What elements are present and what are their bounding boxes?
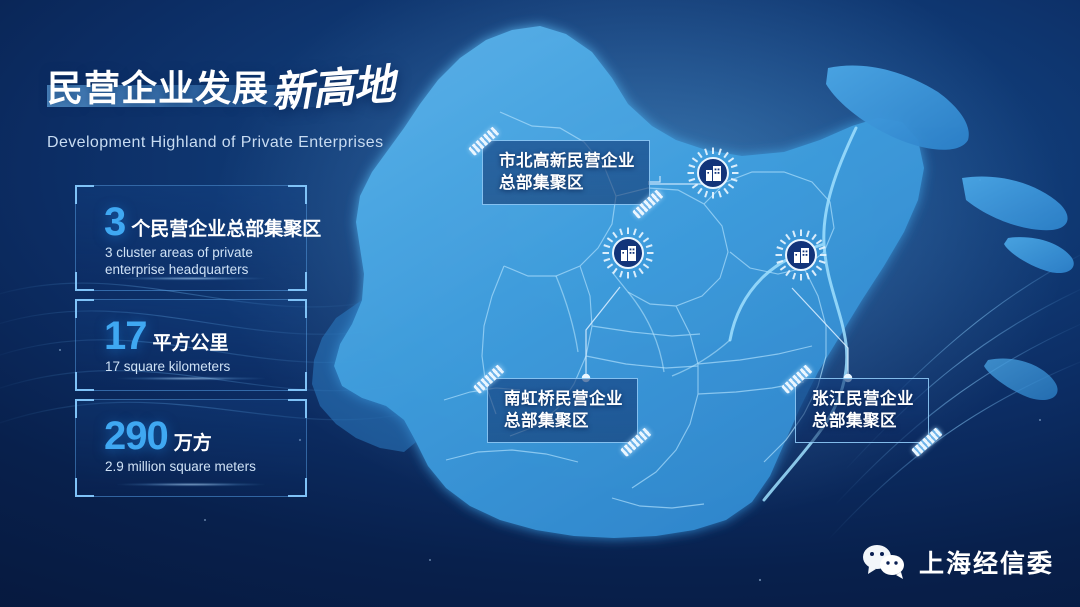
map-label-line1: 市北高新民营企业 <box>499 150 635 172</box>
light-streak <box>117 483 264 486</box>
page-title-accent: 新高地 <box>269 51 396 120</box>
stat-headline: 290万方 <box>104 414 212 459</box>
map-label-line2: 总部集聚区 <box>504 410 623 432</box>
infographic-poster: 民营企业发展新高地 Development Highland of Privat… <box>0 0 1080 607</box>
map-label-line1: 南虹桥民营企业 <box>504 388 623 410</box>
stat-number: 3 <box>104 200 125 244</box>
map-label-shibei[interactable]: 市北高新民营企业 总部集聚区 <box>482 140 650 205</box>
corner-bracket-br <box>288 478 307 497</box>
stat-card-floor-area: 290万方 2.9 million square meters <box>75 399 307 497</box>
stat-english: 3 cluster areas of private enterprise he… <box>105 244 292 278</box>
stat-unit: 个民营企业总部集聚区 <box>131 219 321 240</box>
corner-bracket-tl <box>75 299 94 318</box>
marker-zhangjiang[interactable] <box>774 228 828 282</box>
stat-unit: 平方公里 <box>153 333 229 354</box>
stat-card-area-km: 17平方公里 17 square kilometers <box>75 299 307 391</box>
map-label-line2: 总部集聚区 <box>499 172 635 194</box>
stat-unit: 万方 <box>174 433 212 454</box>
stat-headline: 17平方公里 <box>104 314 229 359</box>
map-label-nanhongqiao[interactable]: 南虹桥民营企业 总部集聚区 <box>487 378 638 443</box>
corner-bracket-tl <box>75 399 94 418</box>
stat-number: 17 <box>104 314 147 358</box>
corner-bracket-tr <box>288 399 307 418</box>
corner-bracket-tl <box>75 185 94 204</box>
map-label-zhangjiang[interactable]: 张江民营企业 总部集聚区 <box>795 378 929 443</box>
wechat-account-name: 上海经信委 <box>919 544 1054 580</box>
stat-english: 2.9 million square meters <box>105 458 292 475</box>
title-block: 民营企业发展新高地 Development Highland of Privat… <box>47 55 477 152</box>
wechat-watermark: 上海经信委 <box>861 543 1054 581</box>
corner-bracket-bl <box>75 478 94 497</box>
stat-headline: 3个民营企业总部集聚区 <box>104 200 321 245</box>
map-label-line2: 总部集聚区 <box>812 410 914 432</box>
corner-bracket-bl <box>75 372 94 391</box>
marker-shibei[interactable] <box>686 146 740 200</box>
map-label-line1: 张江民营企业 <box>812 388 914 410</box>
page-title: 民营企业发展 <box>47 68 269 109</box>
wechat-icon <box>861 543 907 581</box>
stat-card-clusters: 3个民营企业总部集聚区 3 cluster areas of private e… <box>75 185 307 291</box>
light-streak <box>117 277 264 280</box>
page-subtitle: Development Highland of Private Enterpri… <box>47 134 477 152</box>
stat-english: 17 square kilometers <box>105 358 292 375</box>
corner-bracket-bl <box>75 272 94 291</box>
marker-nanhongqiao[interactable] <box>601 226 655 280</box>
corner-bracket-tr <box>288 299 307 318</box>
title-row: 民营企业发展新高地 <box>47 55 477 116</box>
stat-number: 290 <box>104 414 168 458</box>
light-streak <box>117 377 264 380</box>
